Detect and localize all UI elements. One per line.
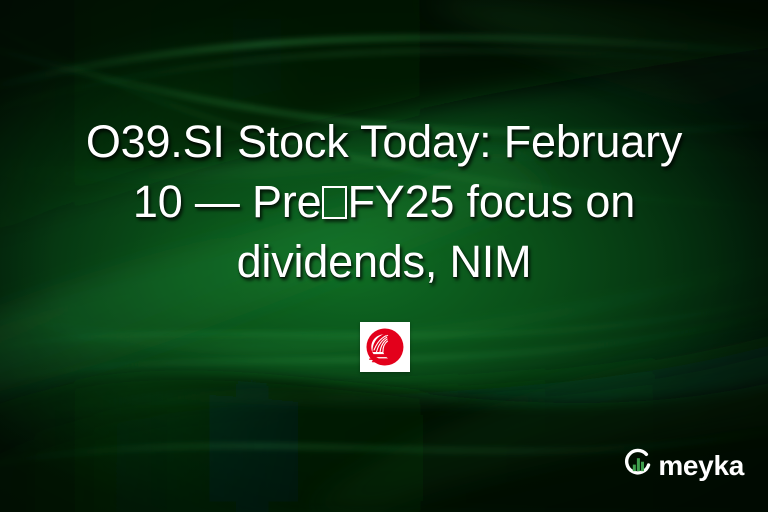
- headline-line-3: dividends, NIM: [237, 236, 532, 287]
- company-logo-tile: [360, 322, 410, 372]
- headline-block: O39.SI Stock Today: February 10 — PreFY2…: [0, 112, 768, 292]
- missing-glyph-box: [322, 186, 347, 219]
- page-title: O39.SI Stock Today: February 10 — PreFY2…: [24, 112, 744, 292]
- headline-line-1: O39.SI Stock Today: February: [86, 116, 682, 167]
- headline-line-2-suffix: FY25 focus on: [347, 176, 635, 227]
- meyka-circle-bars-icon: [622, 447, 654, 484]
- social-share-card: O39.SI Stock Today: February 10 — PreFY2…: [0, 0, 768, 512]
- headline-line-2-prefix: 10 — Pre: [133, 176, 322, 227]
- ocbc-bank-logo-icon: [364, 326, 406, 368]
- brand-logo[interactable]: meyka: [622, 447, 744, 484]
- brand-name: meyka: [658, 452, 744, 480]
